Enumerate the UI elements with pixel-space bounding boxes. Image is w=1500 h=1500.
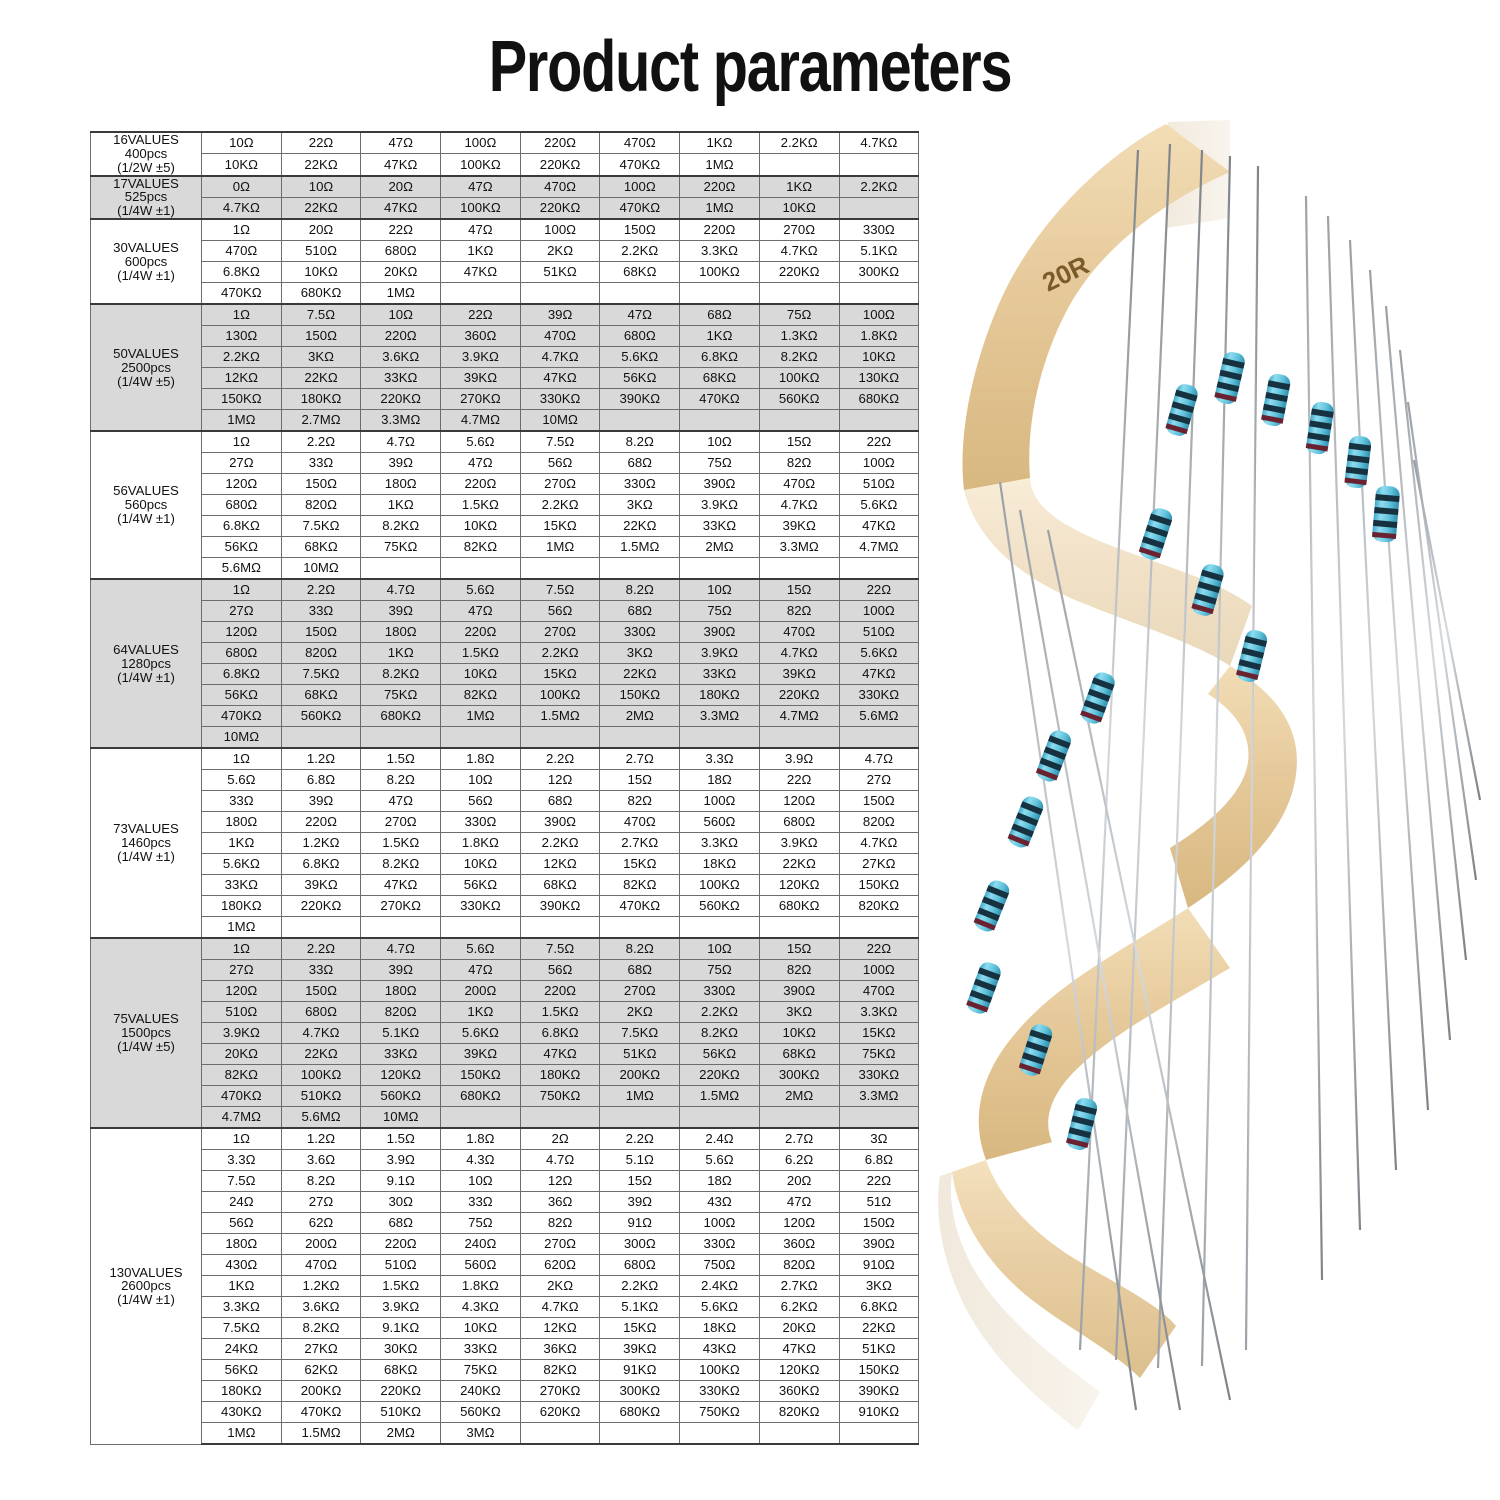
resistance-value-cell: 33Ω <box>202 791 282 812</box>
resistance-value-cell: 68KΩ <box>759 1044 839 1065</box>
resistance-value-cell: 22KΩ <box>600 516 680 537</box>
resistance-value-cell: 390KΩ <box>600 389 680 410</box>
resistance-value-cell: 150KΩ <box>839 875 919 896</box>
resistance-value-cell: 10Ω <box>281 176 361 198</box>
resistance-value-cell <box>600 283 680 305</box>
table-row: 10MΩ <box>91 727 919 749</box>
resistance-value-cell: 10Ω <box>361 304 441 326</box>
resistance-value-cell: 10KΩ <box>202 154 282 176</box>
resistance-value-cell: 43Ω <box>680 1192 760 1213</box>
resistance-value-cell: 470Ω <box>600 812 680 833</box>
resistance-value-cell: 82Ω <box>759 453 839 474</box>
resistance-value-cell: 620Ω <box>520 1255 600 1276</box>
resistance-value-cell: 68KΩ <box>361 1360 441 1381</box>
resistance-value-cell: 100KΩ <box>441 154 521 176</box>
table-row: 470KΩ510KΩ560KΩ680KΩ750KΩ1MΩ1.5MΩ2MΩ3.3M… <box>91 1086 919 1107</box>
resistance-value-cell: 5.6Ω <box>202 770 282 791</box>
resistance-value-cell: 4.7KΩ <box>520 1297 600 1318</box>
resistance-value-cell: 1.5MΩ <box>520 706 600 727</box>
resistance-value-cell: 180KΩ <box>680 685 760 706</box>
resistance-value-cell <box>281 727 361 749</box>
resistance-value-cell: 2.2KΩ <box>600 241 680 262</box>
resistance-value-cell: 910KΩ <box>839 1402 919 1423</box>
resistance-value-cell: 10MΩ <box>520 410 600 432</box>
resistance-value-cell: 6.8KΩ <box>839 1297 919 1318</box>
resistance-value-cell: 39KΩ <box>759 664 839 685</box>
resistance-value-cell: 75Ω <box>759 304 839 326</box>
resistance-value-cell <box>680 1107 760 1129</box>
resistance-value-cell: 270Ω <box>759 219 839 241</box>
group-power-tolerance: (1/4W ±5) <box>91 375 201 389</box>
resistance-value-cell: 39KΩ <box>441 1044 521 1065</box>
table-row: 1KΩ1.2KΩ1.5KΩ1.8KΩ2KΩ2.2KΩ2.4KΩ2.7KΩ3KΩ <box>91 1276 919 1297</box>
resistance-value-cell: 390KΩ <box>839 1381 919 1402</box>
resistance-value-cell: 1KΩ <box>202 1276 282 1297</box>
resistance-value-cell: 20KΩ <box>361 262 441 283</box>
resistance-value-cell: 47Ω <box>361 791 441 812</box>
resistance-value-cell: 270Ω <box>520 622 600 643</box>
resistance-value-cell <box>759 1107 839 1129</box>
resistance-value-cell: 22KΩ <box>281 1044 361 1065</box>
resistance-value-cell: 68Ω <box>600 601 680 622</box>
resistance-value-cell: 3.3MΩ <box>361 410 441 432</box>
resistance-value-cell: 47KΩ <box>520 368 600 389</box>
resistance-value-cell: 120Ω <box>202 981 282 1002</box>
resistance-value-cell: 1.2KΩ <box>281 833 361 854</box>
resistance-value-cell: 43KΩ <box>680 1339 760 1360</box>
resistance-value-cell: 2.2Ω <box>281 431 361 453</box>
resistance-value-cell: 10Ω <box>680 579 760 601</box>
resistance-value-cell: 20Ω <box>361 176 441 198</box>
resistance-value-cell <box>759 558 839 580</box>
resistance-value-cell: 36KΩ <box>520 1339 600 1360</box>
resistance-value-cell: 100Ω <box>520 219 600 241</box>
resistance-value-cell <box>839 727 919 749</box>
resistance-value-cell: 82KΩ <box>520 1360 600 1381</box>
resistance-value-cell: 150Ω <box>839 791 919 812</box>
resistance-value-cell: 1KΩ <box>680 132 760 154</box>
resistance-value-cell: 470KΩ <box>202 706 282 727</box>
resistance-value-cell: 56KΩ <box>202 685 282 706</box>
resistance-value-cell: 330Ω <box>680 981 760 1002</box>
resistance-value-cell: 180KΩ <box>281 389 361 410</box>
table-row: 12KΩ22KΩ33KΩ39KΩ47KΩ56KΩ68KΩ100KΩ130KΩ <box>91 368 919 389</box>
resistance-value-cell: 33KΩ <box>680 664 760 685</box>
resistance-value-cell: 15KΩ <box>839 1023 919 1044</box>
resistance-value-cell: 22KΩ <box>759 854 839 875</box>
resistance-value-cell: 150Ω <box>281 326 361 347</box>
resistance-value-cell: 330KΩ <box>441 896 521 917</box>
table-row: 56VALUES560pcs(1/4W ±1)1Ω2.2Ω4.7Ω5.6Ω7.5… <box>91 431 919 453</box>
resistance-value-cell: 1MΩ <box>600 1086 680 1107</box>
table-row: 4.7KΩ22KΩ47KΩ100KΩ220KΩ470KΩ1MΩ10KΩ <box>91 197 919 219</box>
resistance-value-cell: 39Ω <box>361 960 441 981</box>
resistance-value-cell: 6.2KΩ <box>759 1297 839 1318</box>
resistance-value-cell: 15Ω <box>759 431 839 453</box>
resistance-value-cell: 10Ω <box>441 770 521 791</box>
resistance-value-cell: 220KΩ <box>759 685 839 706</box>
resistance-value-cell: 82KΩ <box>600 875 680 896</box>
resistance-value-cell: 390KΩ <box>520 896 600 917</box>
resistance-value-cell: 4.7KΩ <box>759 241 839 262</box>
resistance-value-cell: 470Ω <box>281 1255 361 1276</box>
table-row: 180KΩ200KΩ220KΩ240KΩ270KΩ300KΩ330KΩ360KΩ… <box>91 1381 919 1402</box>
resistance-value-cell: 270Ω <box>600 981 680 1002</box>
table-row: 75VALUES1500pcs(1/4W ±5)1Ω2.2Ω4.7Ω5.6Ω7.… <box>91 938 919 960</box>
table-row: 6.8KΩ10KΩ20KΩ47KΩ51KΩ68KΩ100KΩ220KΩ300KΩ <box>91 262 919 283</box>
resistance-value-cell: 4.7MΩ <box>441 410 521 432</box>
resistance-value-cell: 33KΩ <box>361 1044 441 1065</box>
resistance-value-cell: 36Ω <box>520 1192 600 1213</box>
resistance-value-cell: 39KΩ <box>281 875 361 896</box>
resistance-value-cell: 360KΩ <box>759 1381 839 1402</box>
resistance-value-cell: 6.8KΩ <box>202 516 282 537</box>
resistance-value-cell <box>759 283 839 305</box>
resistance-value-cell: 47Ω <box>441 176 521 198</box>
resistance-value-cell: 75Ω <box>680 601 760 622</box>
resistance-value-cell: 3.9KΩ <box>680 643 760 664</box>
resistance-value-cell <box>441 727 521 749</box>
resistance-value-cell: 47KΩ <box>361 197 441 219</box>
resistance-value-cell <box>520 558 600 580</box>
resistance-value-cell: 680KΩ <box>600 1402 680 1423</box>
resistance-value-cell: 2.2KΩ <box>202 347 282 368</box>
resistance-value-cell: 22Ω <box>361 219 441 241</box>
resistance-value-cell: 200KΩ <box>281 1381 361 1402</box>
resistance-value-cell: 330KΩ <box>839 1065 919 1086</box>
group-values-count: 75VALUES <box>91 1012 201 1026</box>
resistance-value-cell: 8.2Ω <box>281 1171 361 1192</box>
group-pieces-count: 600pcs <box>91 255 201 269</box>
resistance-value-cell: 68Ω <box>600 960 680 981</box>
resistance-value-cell: 47Ω <box>441 960 521 981</box>
resistance-value-cell: 560KΩ <box>361 1086 441 1107</box>
resistance-value-cell: 390Ω <box>680 622 760 643</box>
resistance-value-cell: 330KΩ <box>520 389 600 410</box>
table-row: 82KΩ100KΩ120KΩ150KΩ180KΩ200KΩ220KΩ300KΩ3… <box>91 1065 919 1086</box>
resistance-value-cell: 1KΩ <box>759 176 839 198</box>
resistance-value-cell <box>759 917 839 939</box>
resistance-value-cell: 10KΩ <box>759 197 839 219</box>
table-row: 2.2KΩ3KΩ3.6KΩ3.9KΩ4.7KΩ5.6KΩ6.8KΩ8.2KΩ10… <box>91 347 919 368</box>
group-header-cell: 17VALUES525pcs(1/4W ±1) <box>91 176 202 220</box>
table-row: 180Ω200Ω220Ω240Ω270Ω300Ω330Ω360Ω390Ω <box>91 1234 919 1255</box>
table-row: 680Ω820Ω1KΩ1.5KΩ2.2KΩ3KΩ3.9KΩ4.7KΩ5.6KΩ <box>91 643 919 664</box>
table-row: 24Ω27Ω30Ω33Ω36Ω39Ω43Ω47Ω51Ω <box>91 1192 919 1213</box>
resistance-value-cell: 12KΩ <box>520 854 600 875</box>
resistance-value-cell: 51KΩ <box>600 1044 680 1065</box>
resistance-value-cell: 100Ω <box>680 791 760 812</box>
resistance-value-cell: 2.7KΩ <box>759 1276 839 1297</box>
resistance-value-cell: 180Ω <box>361 981 441 1002</box>
resistance-value-cell: 680KΩ <box>361 706 441 727</box>
resistance-value-cell: 33Ω <box>281 453 361 474</box>
resistance-value-cell: 56Ω <box>520 601 600 622</box>
table-row: 56Ω62Ω68Ω75Ω82Ω91Ω100Ω120Ω150Ω <box>91 1213 919 1234</box>
resistance-value-cell: 3Ω <box>839 1128 919 1150</box>
resistance-value-cell: 3.3MΩ <box>680 706 760 727</box>
resistance-value-cell: 18Ω <box>680 1171 760 1192</box>
resistance-value-cell: 10KΩ <box>281 262 361 283</box>
resistance-value-cell: 82Ω <box>759 960 839 981</box>
resistance-value-cell: 560KΩ <box>680 896 760 917</box>
resistance-value-cell: 6.2Ω <box>759 1150 839 1171</box>
resistance-value-cell: 27KΩ <box>281 1339 361 1360</box>
resistance-value-cell: 18KΩ <box>680 1318 760 1339</box>
resistance-value-cell: 220KΩ <box>281 896 361 917</box>
resistance-value-cell: 10MΩ <box>281 558 361 580</box>
resistance-value-cell: 47Ω <box>600 304 680 326</box>
resistance-value-cell: 12KΩ <box>202 368 282 389</box>
resistance-value-cell: 15KΩ <box>600 1318 680 1339</box>
group-power-tolerance: (1/4W ±5) <box>91 1040 201 1054</box>
resistance-value-cell: 33Ω <box>281 601 361 622</box>
resistance-value-cell: 470KΩ <box>600 197 680 219</box>
resistance-value-cell: 33Ω <box>441 1192 521 1213</box>
resistance-value-cell: 100Ω <box>441 132 521 154</box>
table-row: 27Ω33Ω39Ω47Ω56Ω68Ω75Ω82Ω100Ω <box>91 453 919 474</box>
resistance-value-cell: 1.8Ω <box>441 748 521 770</box>
resistance-value-cell: 22KΩ <box>281 368 361 389</box>
resistance-value-cell: 20KΩ <box>202 1044 282 1065</box>
resistance-value-cell: 68Ω <box>600 453 680 474</box>
resistance-value-cell: 2.2KΩ <box>520 643 600 664</box>
resistance-value-cell: 180KΩ <box>202 1381 282 1402</box>
resistance-value-cell: 5.6Ω <box>441 938 521 960</box>
resistance-value-cell: 15Ω <box>600 770 680 791</box>
resistance-value-cell: 270KΩ <box>441 389 521 410</box>
resistance-value-cell: 3KΩ <box>839 1276 919 1297</box>
resistance-value-cell: 3.3Ω <box>680 748 760 770</box>
resistance-value-cell: 2.2KΩ <box>759 132 839 154</box>
resistance-value-cell: 300KΩ <box>839 262 919 283</box>
resistance-value-cell: 680KΩ <box>839 389 919 410</box>
table-row: 1MΩ1.5MΩ2MΩ3MΩ <box>91 1423 919 1445</box>
resistance-value-cell: 75Ω <box>441 1213 521 1234</box>
table-row: 180Ω220Ω270Ω330Ω390Ω470Ω560Ω680Ω820Ω <box>91 812 919 833</box>
resistance-value-cell: 2.2KΩ <box>680 1002 760 1023</box>
resistance-value-cell: 180KΩ <box>202 896 282 917</box>
resistance-value-cell <box>839 283 919 305</box>
resistance-value-cell: 7.5KΩ <box>281 516 361 537</box>
resistance-value-cell: 4.7KΩ <box>759 643 839 664</box>
resistance-value-cell: 75KΩ <box>839 1044 919 1065</box>
resistance-value-cell: 150KΩ <box>600 685 680 706</box>
resistance-value-cell: 1.8KΩ <box>441 1276 521 1297</box>
resistance-value-cell: 68KΩ <box>600 262 680 283</box>
resistance-value-cell: 24KΩ <box>202 1339 282 1360</box>
resistance-value-cell: 1.5Ω <box>361 1128 441 1150</box>
resistance-value-cell: 30KΩ <box>361 1339 441 1360</box>
resistance-value-cell: 10KΩ <box>441 664 521 685</box>
resistance-value-cell <box>680 283 760 305</box>
table-row: 4.7MΩ5.6MΩ10MΩ <box>91 1107 919 1129</box>
group-values-count: 16VALUES <box>91 133 201 147</box>
resistance-value-cell: 8.2KΩ <box>680 1023 760 1044</box>
resistance-value-cell <box>759 154 839 176</box>
resistance-value-cell: 62Ω <box>281 1213 361 1234</box>
group-pieces-count: 1280pcs <box>91 657 201 671</box>
resistance-value-cell: 680KΩ <box>759 896 839 917</box>
table-row: 120Ω150Ω180Ω220Ω270Ω330Ω390Ω470Ω510Ω <box>91 474 919 495</box>
resistance-value-cell: 75Ω <box>680 453 760 474</box>
resistance-value-cell: 75KΩ <box>441 1360 521 1381</box>
resistance-value-cell: 120Ω <box>202 474 282 495</box>
resistance-value-cell: 510Ω <box>361 1255 441 1276</box>
table-row: 10KΩ22KΩ47KΩ100KΩ220KΩ470KΩ1MΩ <box>91 154 919 176</box>
resistance-value-cell: 150KΩ <box>441 1065 521 1086</box>
resistance-value-cell: 5.1Ω <box>600 1150 680 1171</box>
resistance-value-cell: 180KΩ <box>520 1065 600 1086</box>
resistance-value-cell <box>361 727 441 749</box>
resistance-value-cell <box>441 917 521 939</box>
resistance-value-cell: 3.9KΩ <box>441 347 521 368</box>
resistance-value-cell: 100KΩ <box>680 262 760 283</box>
resistance-value-cell: 220KΩ <box>520 154 600 176</box>
resistance-value-cell: 2MΩ <box>600 706 680 727</box>
group-header-cell: 50VALUES2500pcs(1/4W ±5) <box>91 304 202 431</box>
resistance-value-cell: 1.2Ω <box>281 748 361 770</box>
resistance-value-cell: 8.2KΩ <box>759 347 839 368</box>
group-values-count: 73VALUES <box>91 822 201 836</box>
resistance-value-cell: 8.2KΩ <box>361 516 441 537</box>
resistance-value-cell: 22KΩ <box>281 197 361 219</box>
resistance-value-cell: 4.7MΩ <box>202 1107 282 1129</box>
resistance-value-cell: 22KΩ <box>600 664 680 685</box>
resistance-value-cell: 47KΩ <box>839 516 919 537</box>
resistance-value-cell <box>839 197 919 219</box>
resistance-value-cell: 56KΩ <box>600 368 680 389</box>
resistance-value-cell: 8.2KΩ <box>361 664 441 685</box>
resistance-value-cell: 130Ω <box>202 326 282 347</box>
resistance-value-cell: 22Ω <box>839 938 919 960</box>
resistance-value-cell: 120KΩ <box>759 875 839 896</box>
table-row: 120Ω150Ω180Ω220Ω270Ω330Ω390Ω470Ω510Ω <box>91 622 919 643</box>
resistance-value-cell: 24Ω <box>202 1192 282 1213</box>
resistance-value-cell: 39Ω <box>281 791 361 812</box>
resistance-value-cell: 6.8Ω <box>281 770 361 791</box>
resistance-value-cell: 56KΩ <box>441 875 521 896</box>
resistance-value-cell: 1MΩ <box>202 1423 282 1445</box>
resistance-value-cell: 150Ω <box>839 1213 919 1234</box>
table-row: 3.3KΩ3.6KΩ3.9KΩ4.3KΩ4.7KΩ5.1KΩ5.6KΩ6.2KΩ… <box>91 1297 919 1318</box>
resistance-value-cell: 3.3Ω <box>202 1150 282 1171</box>
resistance-value-cell: 3.3MΩ <box>759 537 839 558</box>
resistance-value-cell: 82KΩ <box>202 1065 282 1086</box>
resistance-value-cell: 5.6MΩ <box>281 1107 361 1129</box>
resistance-value-cell: 82Ω <box>600 791 680 812</box>
resistance-value-cell: 3.3MΩ <box>839 1086 919 1107</box>
resistance-value-cell: 100Ω <box>839 601 919 622</box>
resistance-value-cell: 27Ω <box>202 453 282 474</box>
resistance-value-cell: 240Ω <box>441 1234 521 1255</box>
table-row: 430Ω470Ω510Ω560Ω620Ω680Ω750Ω820Ω910Ω <box>91 1255 919 1276</box>
resistance-value-cell: 5.6KΩ <box>680 1297 760 1318</box>
resistance-value-cell: 9.1KΩ <box>361 1318 441 1339</box>
resistance-value-cell: 20Ω <box>759 1171 839 1192</box>
resistance-value-cell: 510Ω <box>202 1002 282 1023</box>
resistance-value-cell <box>600 410 680 432</box>
resistance-value-cell: 330Ω <box>600 474 680 495</box>
resistance-value-cell <box>839 1107 919 1129</box>
resistance-value-cell: 2KΩ <box>600 1002 680 1023</box>
resistance-value-cell: 39Ω <box>361 453 441 474</box>
resistance-value-cell: 47Ω <box>759 1192 839 1213</box>
resistance-value-cell: 51KΩ <box>839 1339 919 1360</box>
resistance-value-cell: 10KΩ <box>441 854 521 875</box>
resistance-value-cell: 820Ω <box>281 643 361 664</box>
table-row: 27Ω33Ω39Ω47Ω56Ω68Ω75Ω82Ω100Ω <box>91 960 919 981</box>
resistance-value-cell: 270Ω <box>520 474 600 495</box>
resistance-value-cell: 680KΩ <box>281 283 361 305</box>
resistance-value-cell: 39Ω <box>520 304 600 326</box>
table-row: 30VALUES600pcs(1/4W ±1)1Ω20Ω22Ω47Ω100Ω15… <box>91 219 919 241</box>
resistance-value-cell: 470KΩ <box>202 283 282 305</box>
resistance-value-cell: 4.7MΩ <box>759 706 839 727</box>
resistance-value-cell: 2.2KΩ <box>600 1276 680 1297</box>
resistance-value-cell: 7.5Ω <box>520 938 600 960</box>
resistance-value-cell: 1KΩ <box>441 241 521 262</box>
resistance-value-cell <box>441 558 521 580</box>
group-power-tolerance: (1/4W ±1) <box>91 512 201 526</box>
resistance-value-cell: 100Ω <box>839 304 919 326</box>
resistance-value-cell: 4.7Ω <box>361 579 441 601</box>
resistance-value-cell: 3KΩ <box>281 347 361 368</box>
resistance-value-cell: 120KΩ <box>361 1065 441 1086</box>
resistance-value-cell <box>839 1423 919 1445</box>
resistance-value-cell <box>520 1107 600 1129</box>
product-parameters-table: 16VALUES400pcs(1/2W ±5)10Ω22Ω47Ω100Ω220Ω… <box>90 131 919 1445</box>
resistance-value-cell: 39Ω <box>361 601 441 622</box>
resistance-value-cell: 20Ω <box>281 219 361 241</box>
table-row: 680Ω820Ω1KΩ1.5KΩ2.2KΩ3KΩ3.9KΩ4.7KΩ5.6KΩ <box>91 495 919 516</box>
table-row: 6.8KΩ7.5KΩ8.2KΩ10KΩ15KΩ22KΩ33KΩ39KΩ47KΩ <box>91 664 919 685</box>
resistance-value-cell: 47Ω <box>441 219 521 241</box>
resistance-value-cell: 750KΩ <box>520 1086 600 1107</box>
resistance-value-cell: 470Ω <box>520 176 600 198</box>
resistance-value-cell <box>759 1423 839 1445</box>
resistance-value-cell: 33KΩ <box>202 875 282 896</box>
resistance-value-cell: 10KΩ <box>441 516 521 537</box>
group-power-tolerance: (1/4W ±1) <box>91 1293 201 1307</box>
resistance-value-cell: 120Ω <box>202 622 282 643</box>
group-pieces-count: 560pcs <box>91 498 201 512</box>
resistance-value-cell: 15Ω <box>600 1171 680 1192</box>
resistance-value-cell: 1MΩ <box>361 283 441 305</box>
resistance-value-cell: 15Ω <box>759 579 839 601</box>
resistance-value-cell: 82Ω <box>759 601 839 622</box>
resistance-value-cell: 820Ω <box>759 1255 839 1276</box>
resistance-value-cell: 1.5MΩ <box>680 1086 760 1107</box>
table-row: 470KΩ680KΩ1MΩ <box>91 283 919 305</box>
resistance-value-cell: 47KΩ <box>520 1044 600 1065</box>
resistance-value-cell: 820KΩ <box>759 1402 839 1423</box>
resistance-value-cell: 47KΩ <box>759 1339 839 1360</box>
resistance-value-cell <box>361 917 441 939</box>
resistance-value-cell: 56Ω <box>520 960 600 981</box>
resistance-value-cell: 4.3Ω <box>441 1150 521 1171</box>
specs-table-container: 16VALUES400pcs(1/2W ±5)10Ω22Ω47Ω100Ω220Ω… <box>90 131 908 1445</box>
resistance-value-cell: 3.9KΩ <box>202 1023 282 1044</box>
resistance-value-cell: 100KΩ <box>281 1065 361 1086</box>
group-header-cell: 73VALUES1460pcs(1/4W ±1) <box>91 748 202 938</box>
group-values-count: 17VALUES <box>91 177 201 191</box>
resistance-value-cell: 5.6KΩ <box>600 347 680 368</box>
resistance-value-cell: 330Ω <box>441 812 521 833</box>
resistance-value-cell: 120KΩ <box>759 1360 839 1381</box>
group-pieces-count: 2500pcs <box>91 361 201 375</box>
table-row: 470Ω510Ω680Ω1KΩ2KΩ2.2KΩ3.3KΩ4.7KΩ5.1KΩ <box>91 241 919 262</box>
